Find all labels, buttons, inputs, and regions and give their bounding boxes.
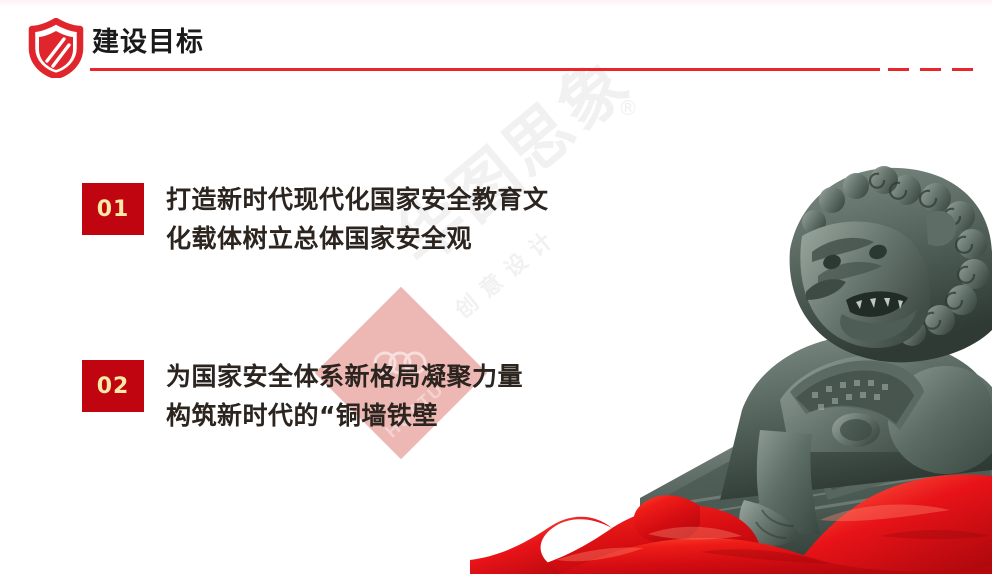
bullet-number-badge: 02 [82,360,144,412]
slide-root: 华图思象 创意设计 ® HUATU 建设目标 01 打造新时代 [0,0,992,574]
header-dash-2 [920,68,941,71]
list-item: 01 打造新时代现代化国家安全教育文 化载体树立总体国家安全观 [82,180,549,258]
slide-header: 建设目标 [0,0,992,92]
bullet-number-badge: 01 [82,183,144,235]
page-title: 建设目标 [92,25,204,61]
header-dash-1 [888,68,909,71]
header-dash-accent [888,68,974,71]
bullet-text: 打造新时代现代化国家安全教育文 化载体树立总体国家安全观 [166,180,549,258]
shield-icon [28,18,84,78]
bullet-text: 为国家安全体系新格局凝聚力量 构筑新时代的“铜墙铁壁 [166,357,523,435]
header-underline [90,68,880,71]
header-dash-3 [952,68,973,71]
list-item: 02 为国家安全体系新格局凝聚力量 构筑新时代的“铜墙铁壁 [82,357,523,435]
